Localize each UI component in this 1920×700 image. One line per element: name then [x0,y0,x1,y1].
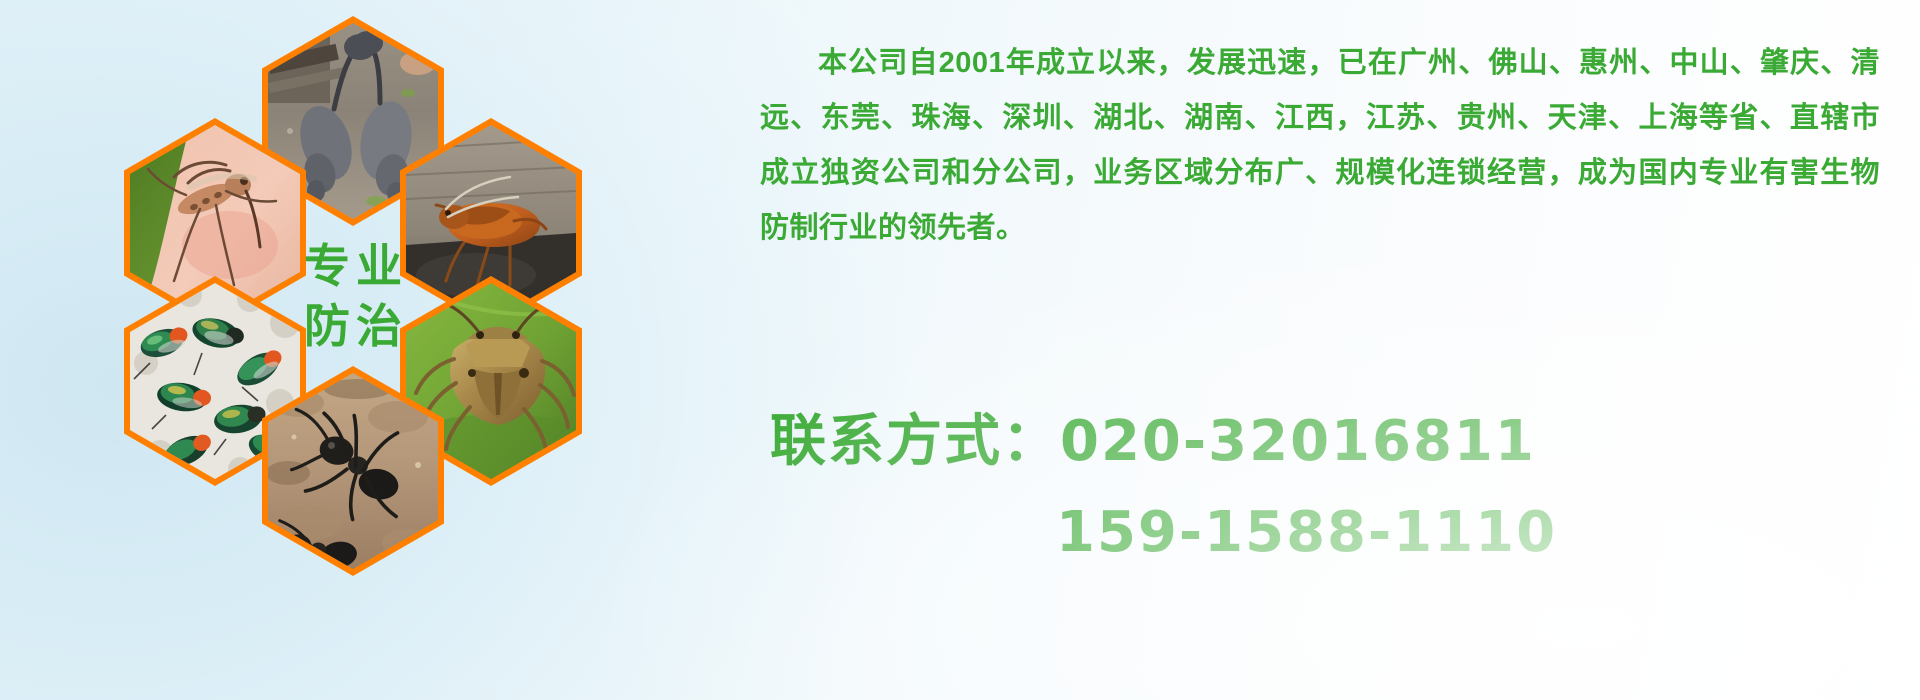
contact-phone-mobile[interactable]: 159-1588-1110 [1056,500,1557,565]
promo-banner: 专业 防治 本公司自2001年成立以来，发展迅速，已在广州、佛山、惠州、中山、肇… [0,0,1920,700]
contact-block: 联系方式：020-32016811 159-1588-1110 [770,396,1880,565]
hex-photo-collage: 专业 防治 [96,8,596,588]
company-intro-paragraph: 本公司自2001年成立以来，发展迅速，已在广州、佛山、惠州、中山、肇庆、清远、东… [760,36,1880,256]
ant-photo-icon [268,373,438,569]
slogan-line-1: 专业 [298,243,408,289]
slogan-line-2: 防治 [298,303,408,349]
contact-line-primary: 联系方式：020-32016811 [770,396,1880,477]
company-intro: 本公司自2001年成立以来，发展迅速，已在广州、佛山、惠州、中山、肇庆、清远、东… [760,36,1880,256]
contact-label: 联系方式： [770,409,1060,472]
logo-slogan-hex: 专业 防治 [262,191,444,401]
contact-phone-landline[interactable]: 020-32016811 [1060,409,1536,474]
contact-line-secondary: 159-1588-1110 [770,499,1880,565]
